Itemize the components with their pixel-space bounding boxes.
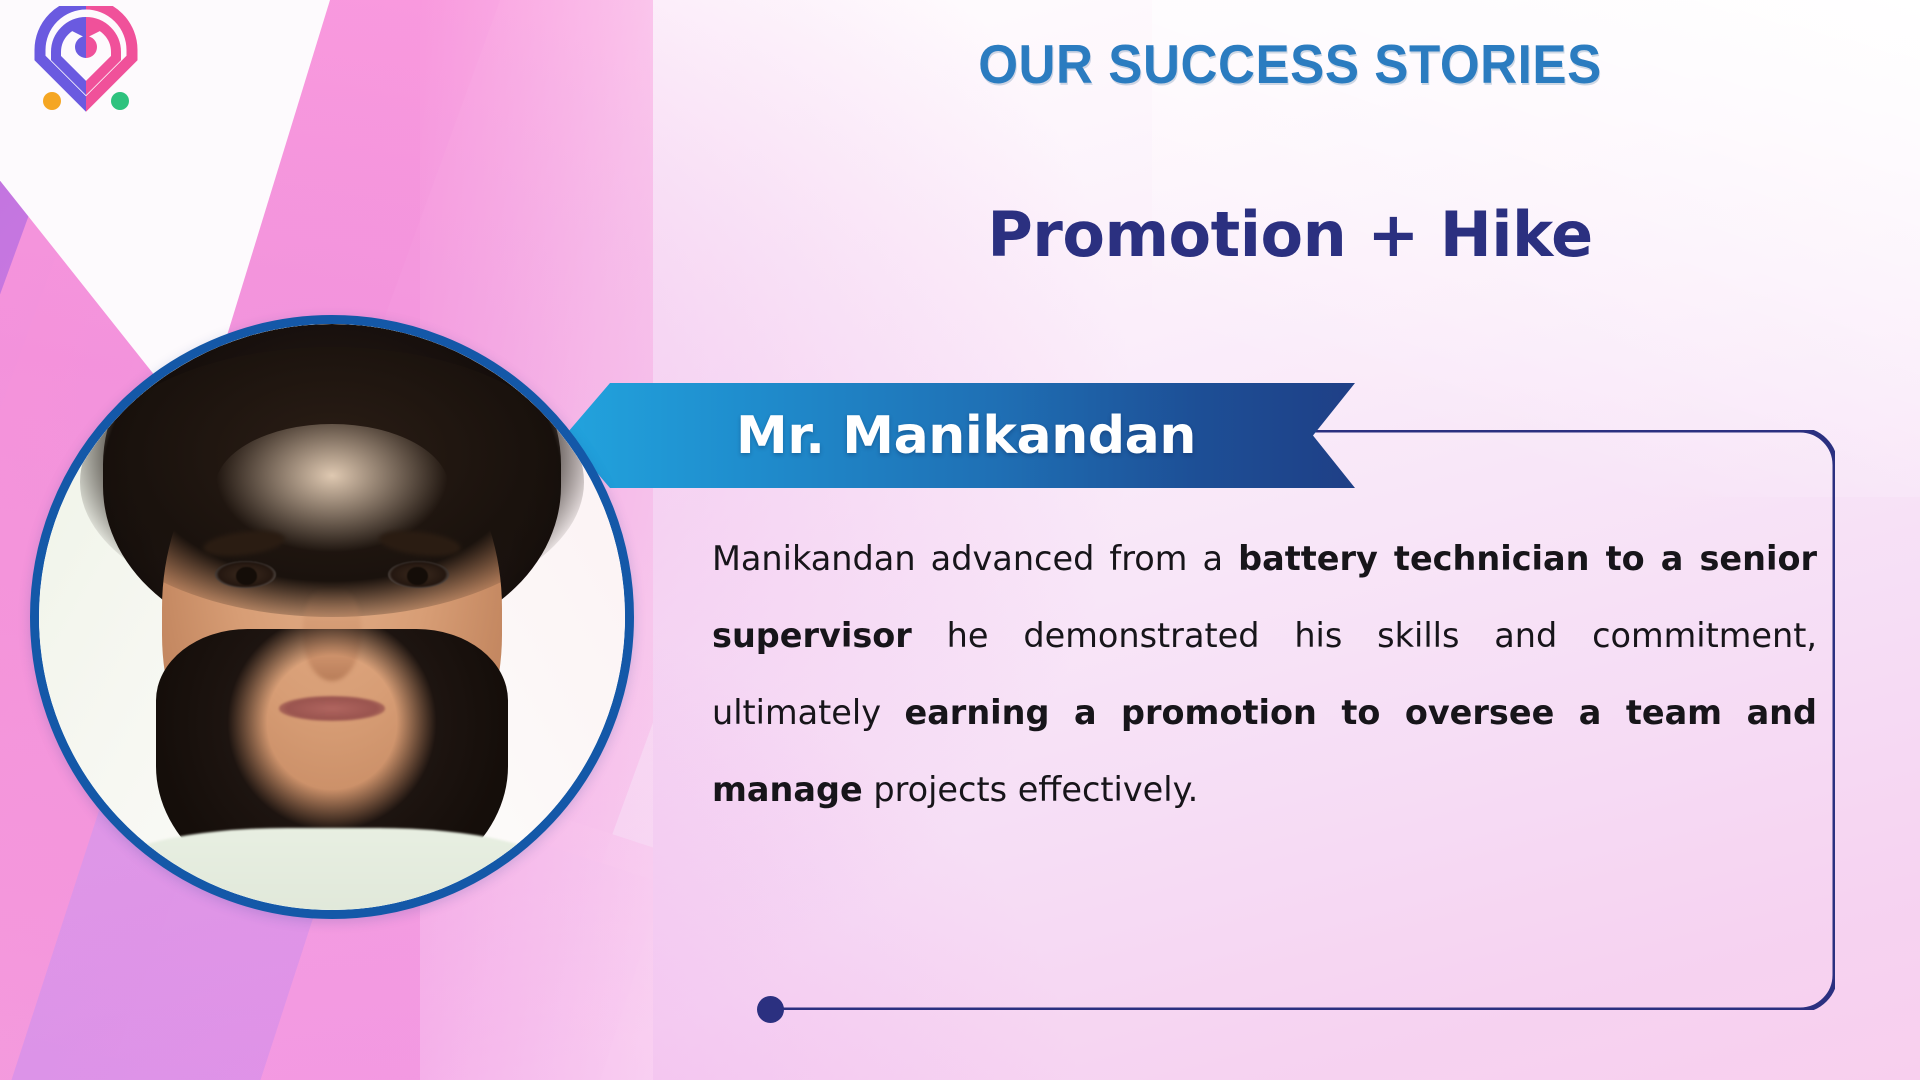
- photo-shirt: [109, 828, 554, 910]
- avatar: [30, 315, 634, 919]
- person-name: Mr. Manikandan: [724, 406, 1196, 466]
- decorative-dot: [757, 996, 784, 1023]
- story-text: projects effectively.: [863, 770, 1199, 809]
- page-subtitle: Promotion + Hike: [700, 198, 1880, 271]
- story-text: Manikandan advanced from a: [712, 539, 1238, 578]
- page-title: OUR SUCCESS STORIES: [741, 32, 1838, 96]
- name-banner: Mr. Manikandan: [565, 383, 1355, 488]
- logo-dot-orange: [43, 92, 61, 110]
- photo-pupil-left: [236, 567, 257, 586]
- portrait-photo: [39, 324, 625, 910]
- logo-dot-green: [111, 92, 129, 110]
- story-paragraph: Manikandan advanced from a battery techn…: [712, 520, 1817, 828]
- brand-logo: [30, 6, 142, 124]
- photo-mouth: [279, 696, 384, 721]
- logo-center-dot: [75, 36, 97, 58]
